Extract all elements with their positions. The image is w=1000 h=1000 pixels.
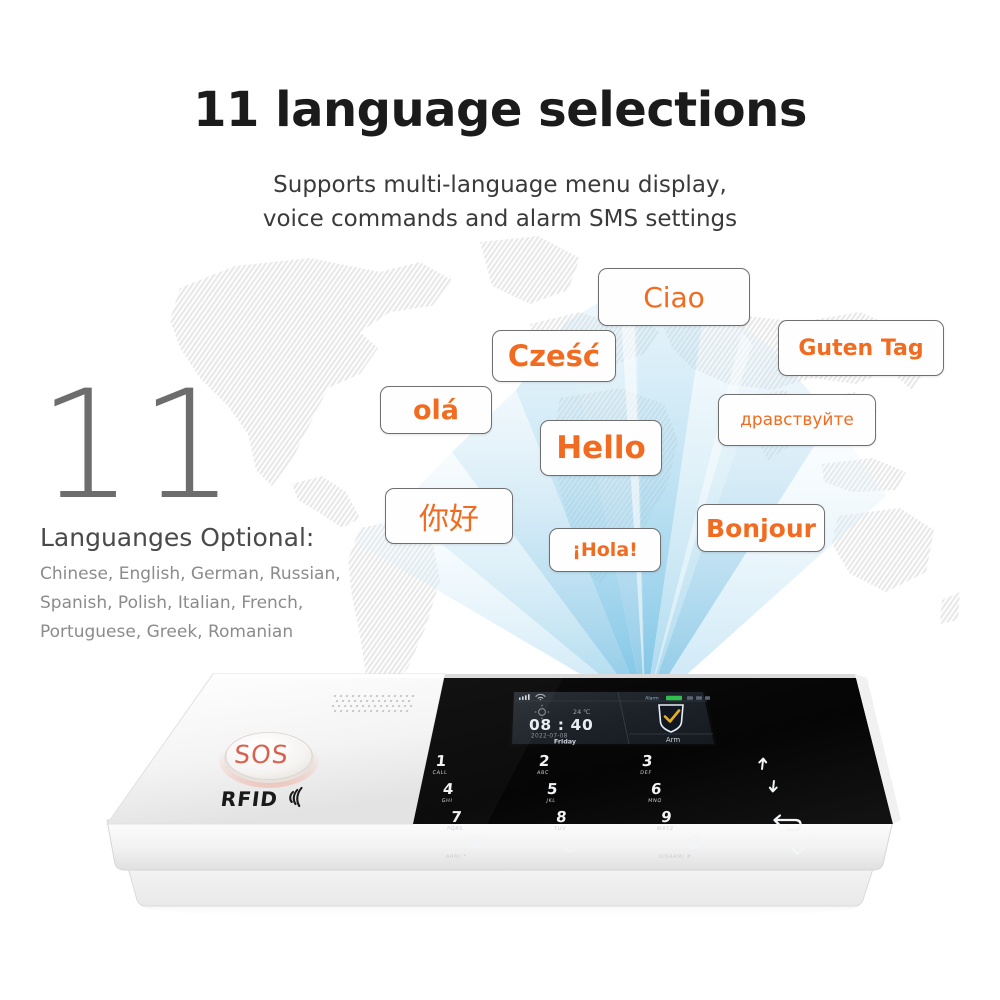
greeting-bubble-ciao: Ciao	[598, 268, 750, 326]
svg-text:3: 3	[641, 752, 653, 770]
greeting-bubble-hello: Hello	[540, 420, 662, 476]
svg-text:9: 9	[660, 808, 672, 826]
page-title: 11 language selections	[0, 82, 1000, 138]
lcd-weekday: Friday	[554, 737, 577, 745]
svg-text:ARM/ *: ARM/ *	[446, 854, 467, 860]
subtitle-line-1: Supports multi-language menu display,	[0, 168, 1000, 202]
lcd-status-right-label: Alarm	[645, 696, 659, 702]
svg-text:O: O	[563, 838, 577, 856]
rfid-label: RFID	[219, 787, 279, 811]
lcd-temperature: 24 ℃	[573, 708, 590, 716]
svg-text:DEF: DEF	[640, 770, 652, 776]
greeting-bubble-ola: olá	[380, 386, 492, 434]
greeting-bubble-guten-tag: Guten Tag	[778, 320, 944, 376]
languages-list-line-1: Chinese, English, German, Russian,	[40, 560, 400, 589]
svg-text:5: 5	[546, 780, 558, 798]
greeting-bubble-hola: ¡Hola!	[549, 528, 661, 572]
greeting-bubble-nihao: 你好	[385, 488, 513, 544]
svg-text:2: 2	[538, 752, 550, 770]
lcd-status-indicator	[666, 696, 682, 700]
keypad-key-2[interactable]: 2 ABC	[537, 752, 551, 776]
svg-text:JKL: JKL	[545, 798, 556, 804]
languages-list: Chinese, English, German, Russian, Spani…	[40, 560, 400, 647]
svg-text:6: 6	[650, 780, 662, 798]
sos-button[interactable]: SOS	[219, 732, 319, 788]
languages-list-line-2: Spanish, Polish, Italian, French,	[40, 589, 400, 618]
svg-text:DISARM/ #: DISARM/ #	[659, 854, 692, 860]
svg-text:MNO: MNO	[648, 798, 662, 804]
svg-text:ABC: ABC	[537, 770, 550, 776]
lcd-arm-label: Arm	[666, 736, 681, 744]
svg-text:PQRS: PQRS	[447, 826, 464, 832]
svg-text:WXYZ: WXYZ	[656, 826, 674, 832]
language-count: 11	[38, 376, 241, 516]
keypad-key-0[interactable]: O	[563, 838, 577, 856]
device-front-band	[107, 820, 893, 870]
greeting-bubble-russian: дравствуйте	[718, 394, 876, 446]
page-subtitle: Supports multi-language menu display, vo…	[0, 168, 1000, 236]
alarm-panel-device: SOS RFID	[95, 668, 905, 918]
poster-canvas: 11 language selections Supports multi-la…	[0, 0, 1000, 1000]
languages-optional-title: Languanges Optional:	[40, 523, 314, 552]
greeting-bubble-czesc: Cześć	[492, 330, 616, 382]
languages-list-line-3: Portuguese, Greek, Romanian	[40, 618, 400, 647]
keypad-key-3[interactable]: 3 DEF	[640, 752, 654, 776]
svg-text:8: 8	[555, 808, 567, 826]
sos-button-label: SOS	[233, 740, 290, 769]
svg-text:TUV: TUV	[553, 826, 567, 832]
greeting-bubble-bonjour: Bonjour	[697, 504, 825, 552]
